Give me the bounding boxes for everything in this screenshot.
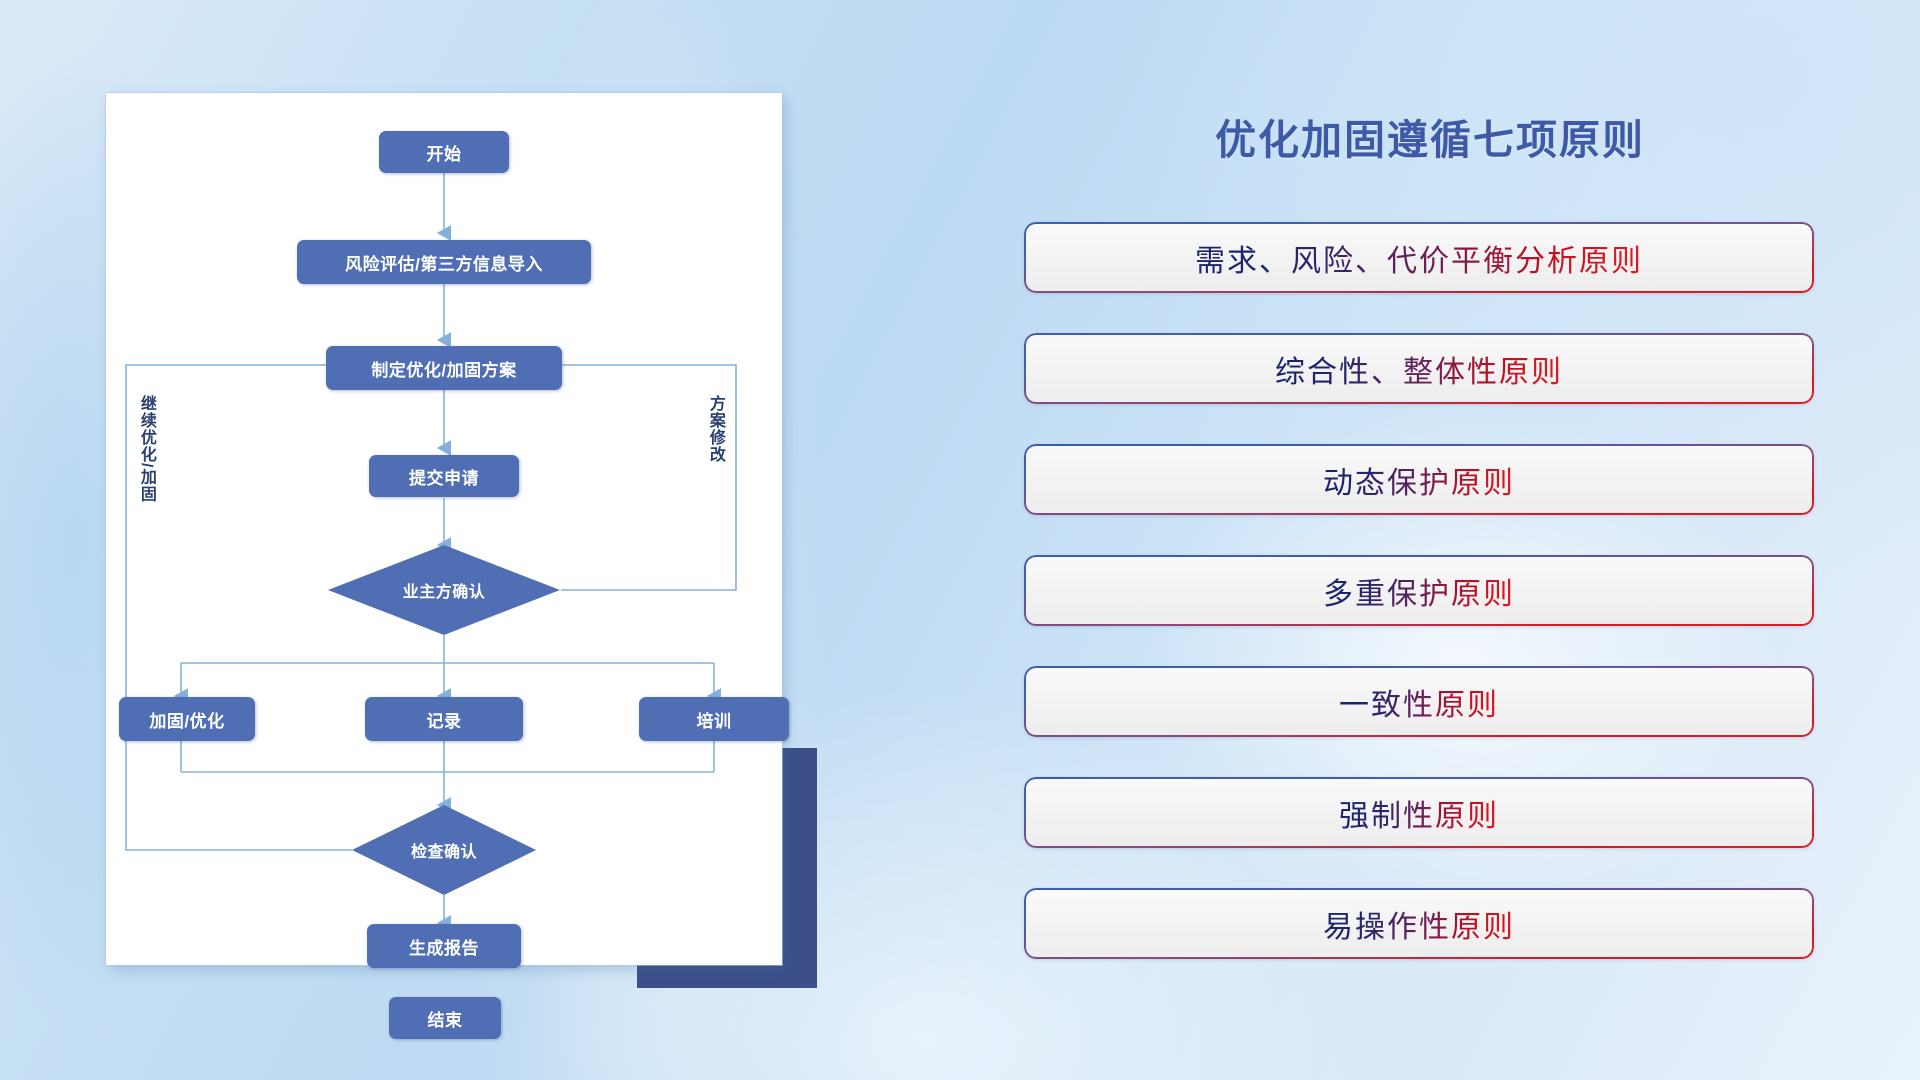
principles-panel: 优化加固遵循七项原则 需求、风险、代价平衡分析原则 综合性、整体性原则 动态保护… (1020, 80, 1840, 1020)
principle-item-1[interactable]: 需求、风险、代价平衡分析原则 (1024, 222, 1814, 293)
flow-node-label: 风险评估/第三方信息导入 (345, 250, 543, 275)
flow-node-risk-assessment[interactable]: 风险评估/第三方信息导入 (297, 240, 591, 284)
principle-label: 多重保护原则 (1323, 569, 1515, 613)
principle-item-4[interactable]: 多重保护原则 (1024, 555, 1814, 626)
flow-node-training[interactable]: 培训 (639, 697, 789, 741)
panel-title: 优化加固遵循七项原则 (1020, 106, 1840, 166)
flow-node-end[interactable]: 结束 (389, 997, 501, 1039)
principle-item-6[interactable]: 强制性原则 (1024, 777, 1814, 848)
flow-node-make-plan[interactable]: 制定优化/加固方案 (326, 346, 562, 390)
flow-node-label: 加固/优化 (149, 707, 224, 732)
principle-label: 一致性原则 (1339, 680, 1499, 724)
flow-edge-label-plan-revision: 方案修改 (706, 395, 724, 555)
principle-label: 动态保护原则 (1323, 458, 1515, 502)
flowchart-canvas: 开始 风险评估/第三方信息导入 制定优化/加固方案 提交申请 业主方确认 加固/… (106, 93, 782, 965)
flow-node-submit-application[interactable]: 提交申请 (369, 455, 519, 497)
flowchart-card: 开始 风险评估/第三方信息导入 制定优化/加固方案 提交申请 业主方确认 加固/… (106, 93, 782, 965)
flow-node-reinforce-optimize[interactable]: 加固/优化 (119, 697, 255, 741)
flow-node-label: 结束 (428, 1006, 463, 1031)
flow-node-label: 检查确认 (352, 805, 536, 895)
flow-node-label: 培训 (697, 707, 732, 732)
flow-node-generate-report[interactable]: 生成报告 (367, 924, 521, 968)
principle-label: 易操作性原则 (1323, 902, 1515, 946)
flow-node-label: 开始 (427, 140, 462, 165)
flow-node-start[interactable]: 开始 (379, 131, 509, 173)
principle-item-7[interactable]: 易操作性原则 (1024, 888, 1814, 959)
flow-node-record[interactable]: 记录 (365, 697, 523, 741)
flow-node-label: 提交申请 (409, 464, 479, 489)
principle-item-5[interactable]: 一致性原则 (1024, 666, 1814, 737)
principle-item-3[interactable]: 动态保护原则 (1024, 444, 1814, 515)
flow-edge-label-continue-optimize: 继续优化/加固 (137, 395, 155, 595)
principle-label: 综合性、整体性原则 (1275, 347, 1563, 391)
flow-node-inspect-confirm[interactable]: 检查确认 (352, 805, 536, 895)
flow-node-owner-confirm[interactable]: 业主方确认 (328, 545, 560, 635)
principle-item-2[interactable]: 综合性、整体性原则 (1024, 333, 1814, 404)
flow-node-label: 制定优化/加固方案 (371, 356, 516, 381)
flow-node-label: 业主方确认 (328, 545, 560, 635)
principle-label: 需求、风险、代价平衡分析原则 (1195, 236, 1643, 280)
flow-node-label: 生成报告 (409, 934, 479, 959)
principle-label: 强制性原则 (1339, 791, 1499, 835)
flow-node-label: 记录 (427, 707, 462, 732)
